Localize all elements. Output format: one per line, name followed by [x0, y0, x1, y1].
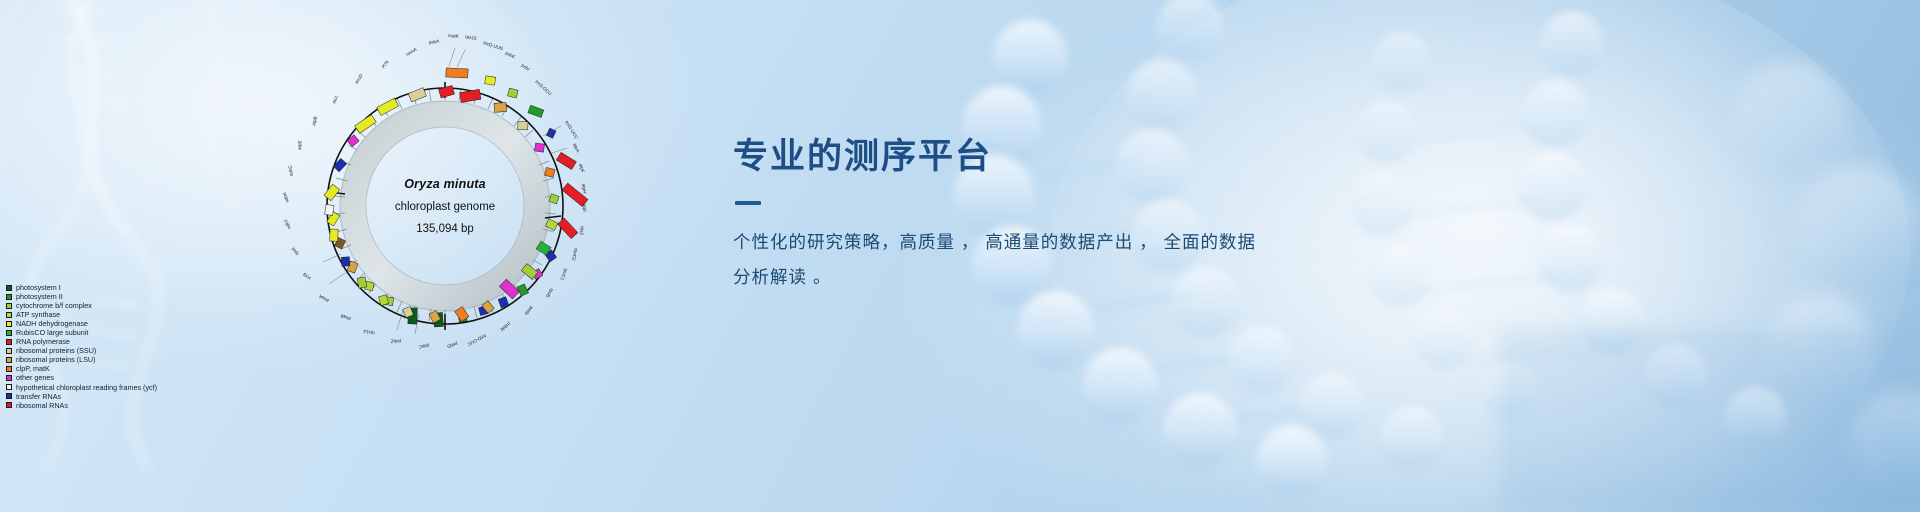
legend-color-swatch — [6, 339, 12, 345]
legend-color-swatch — [6, 348, 12, 354]
legend-item: NADH dehydrogenase — [6, 319, 157, 328]
legend-color-swatch — [6, 285, 12, 291]
legend-item: hypothetical chloroplast reading frames … — [6, 383, 157, 392]
legend-item-label: hypothetical chloroplast reading frames … — [16, 383, 157, 392]
chloroplast-genome-map: psbA matK rps16 trnQ-UUG psbK psbI trnS-… — [243, 4, 647, 408]
legend-item: ribosomal proteins (LSU) — [6, 355, 157, 364]
legend-item-label: photosystem II — [16, 292, 63, 301]
legend-color-swatch — [6, 312, 12, 318]
legend-item-label: photosystem I — [16, 283, 61, 292]
hero-subtext: 个性化的研究策略，高质量 ， 高通量的数据产出 ， 全面的数据分析解读 。 — [733, 225, 1263, 297]
genome-size-label: 135,094 bp — [416, 223, 474, 235]
genome-center-caption: Oryza minuta chloroplast genome 135,094 … — [243, 4, 647, 408]
legend-item: other genes — [6, 373, 157, 382]
legend-item-label: ribosomal RNAs — [16, 401, 68, 410]
legend-item: ATP synthase — [6, 310, 157, 319]
legend-item-label: ribosomal proteins (LSU) — [16, 355, 96, 364]
genome-species-name: Oryza minuta — [404, 177, 486, 191]
legend-item-label: ribosomal proteins (SSU) — [16, 346, 96, 355]
legend-item: transfer RNAs — [6, 392, 157, 401]
headline-underline-rule — [735, 201, 761, 205]
legend-item: cytochrome b/f complex — [6, 301, 157, 310]
legend-item: ribosomal proteins (SSU) — [6, 346, 157, 355]
legend-item-label: NADH dehydrogenase — [16, 319, 88, 328]
genome-kind-label: chloroplast genome — [395, 201, 495, 213]
legend-color-swatch — [6, 375, 12, 381]
legend-item-label: other genes — [16, 373, 54, 382]
legend-color-swatch — [6, 303, 12, 309]
legend-item: photosystem II — [6, 292, 157, 301]
legend-item: photosystem I — [6, 283, 157, 292]
hero-copy-block: 专业的测序平台 个性化的研究策略，高质量 ， 高通量的数据产出 ， 全面的数据分… — [733, 138, 1373, 296]
legend-item: RNA polymerase — [6, 337, 157, 346]
legend-color-swatch — [6, 393, 12, 399]
legend-item-label: RubisCO large subunit — [16, 328, 88, 337]
legend-item-label: clpP, matK — [16, 364, 50, 373]
legend-item: ribosomal RNAs — [6, 401, 157, 410]
legend-item: RubisCO large subunit — [6, 328, 157, 337]
legend-item: clpP, matK — [6, 364, 157, 373]
legend-color-swatch — [6, 321, 12, 327]
hero-headline: 专业的测序平台 — [733, 138, 1373, 177]
legend-item-label: cytochrome b/f complex — [16, 301, 92, 310]
legend-color-swatch — [6, 330, 12, 336]
genome-legend: photosystem Iphotosystem IIcytochrome b/… — [6, 283, 157, 410]
hero-banner: psbA matK rps16 trnQ-UUG psbK psbI trnS-… — [0, 0, 1920, 512]
legend-color-swatch — [6, 402, 12, 408]
legend-item-label: RNA polymerase — [16, 337, 70, 346]
legend-item-label: transfer RNAs — [16, 392, 61, 401]
legend-color-swatch — [6, 366, 12, 372]
legend-color-swatch — [6, 384, 12, 390]
legend-color-swatch — [6, 357, 12, 363]
legend-color-swatch — [6, 294, 12, 300]
legend-item-label: ATP synthase — [16, 310, 60, 319]
